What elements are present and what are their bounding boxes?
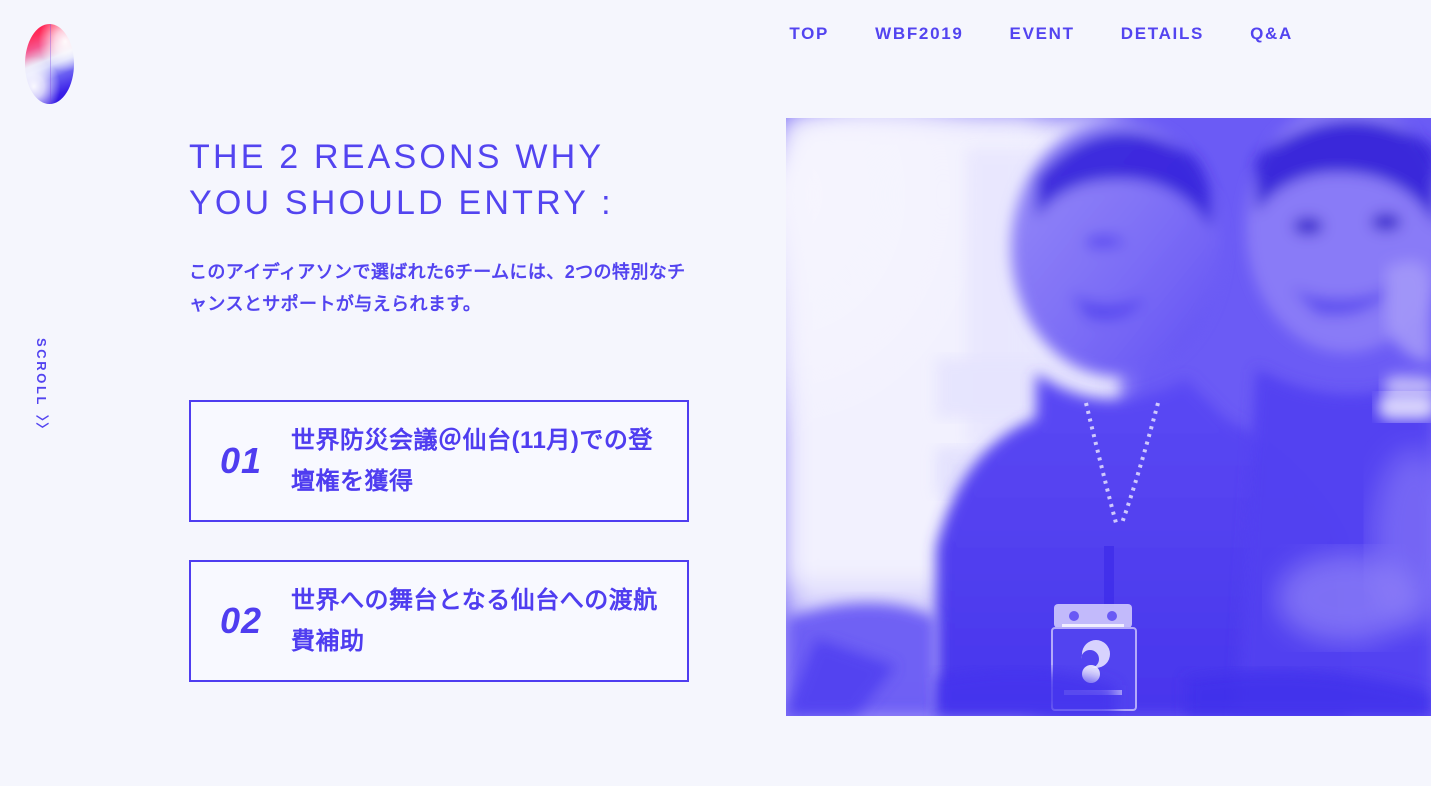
reason-card-02[interactable]: 02 世界への舞台となる仙台への渡航費補助 — [189, 560, 689, 682]
nav-item-qa[interactable]: Q&A — [1250, 24, 1293, 44]
hero-photo-graphic — [786, 118, 1431, 716]
page-title: THE 2 REASONS WHY YOU SHOULD ENTRY : — [189, 134, 699, 226]
main-navigation: TOP WBF2019 EVENT DETAILS Q&A — [789, 0, 1431, 68]
reason-text: 世界への舞台となる仙台への渡航費補助 — [291, 580, 687, 662]
reason-text: 世界防災会議＠仙台(11月)での登壇権を獲得 — [291, 420, 687, 502]
intro-block: THE 2 REASONS WHY YOU SHOULD ENTRY : このア… — [189, 134, 699, 320]
nav-item-event[interactable]: EVENT — [1010, 24, 1075, 44]
reason-number: 01 — [191, 440, 291, 482]
scroll-label: SCROLL — [34, 338, 49, 407]
nav-item-wbf2019[interactable]: WBF2019 — [875, 24, 963, 44]
site-logo[interactable] — [25, 24, 74, 104]
logo-seam — [50, 24, 51, 104]
scroll-indicator[interactable]: SCROLL 〉〉 — [32, 338, 51, 437]
chevron-down-icon: 〉〉 — [32, 415, 51, 437]
reason-card-01[interactable]: 01 世界防災会議＠仙台(11月)での登壇権を獲得 — [189, 400, 689, 522]
hero-photo — [786, 118, 1431, 716]
page-subtitle: このアイディアソンで選ばれた6チームには、2つの特別なチャンスとサポートが与えら… — [189, 256, 689, 320]
nav-item-details[interactable]: DETAILS — [1121, 24, 1204, 44]
landing-page: TOP WBF2019 EVENT DETAILS Q&A SCROLL 〉〉 … — [0, 0, 1431, 786]
reason-number: 02 — [191, 600, 291, 642]
nav-item-top[interactable]: TOP — [789, 24, 829, 44]
reasons-list: 01 世界防災会議＠仙台(11月)での登壇権を獲得 02 世界への舞台となる仙台… — [189, 400, 689, 720]
